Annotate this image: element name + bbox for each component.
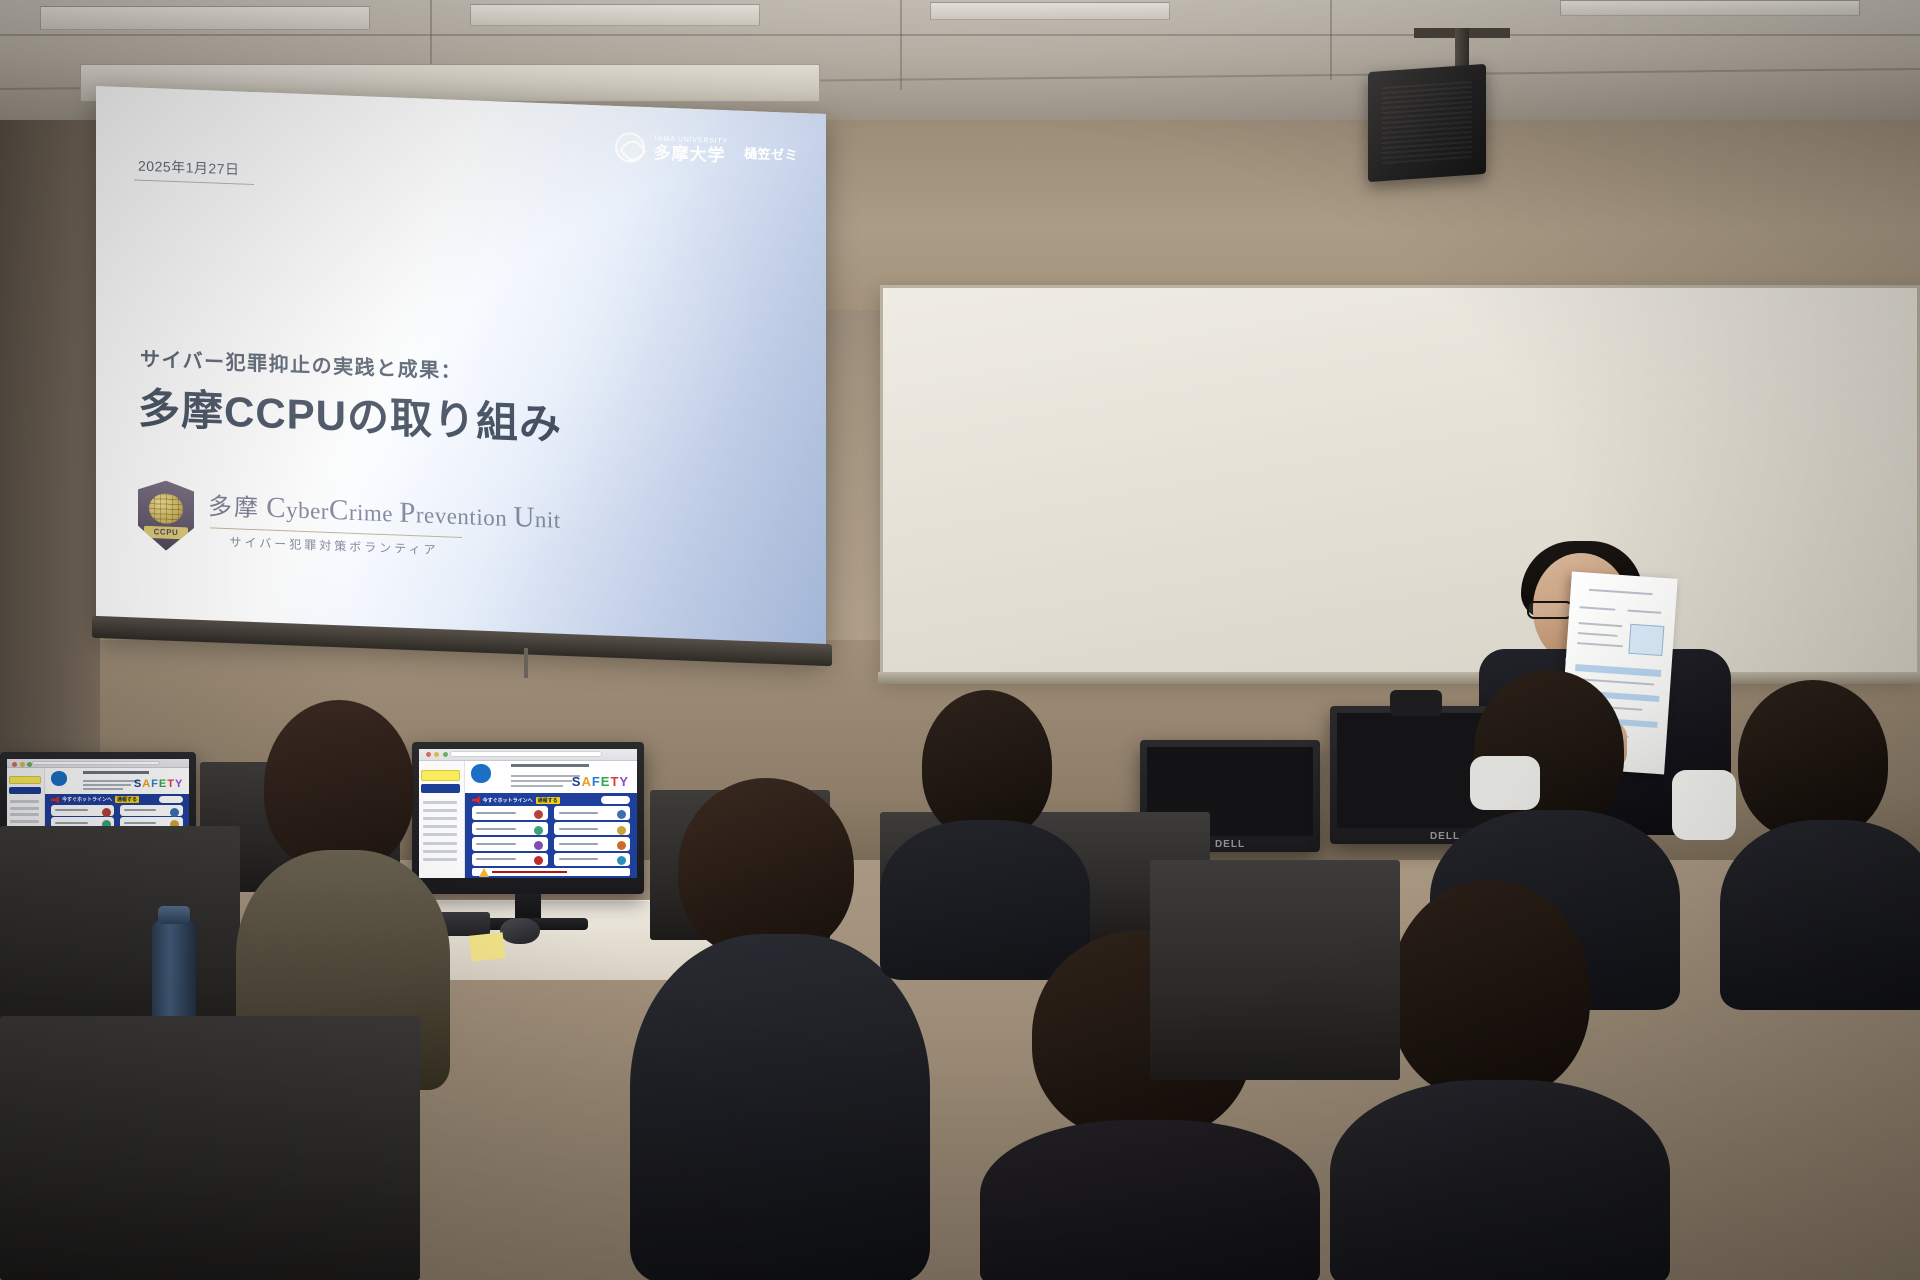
warning-notice xyxy=(472,868,630,877)
sidebar-active-item[interactable] xyxy=(9,787,41,794)
monitor-center[interactable]: S A F E T Y 今すぐホットラインへ 通報する xyxy=(412,742,644,894)
university-logo: TAMA UNIVERSITY 多摩大学 樋笠ゼミ xyxy=(615,132,798,169)
hotline-banner-text: 今すぐホットラインへ xyxy=(483,797,533,804)
bottle-cap xyxy=(158,906,190,924)
browser-url-bar[interactable] xyxy=(450,751,603,757)
ccpu-badge-text: CCPU xyxy=(144,526,188,540)
yellow-sticky-note xyxy=(469,932,506,961)
megaphone-icon xyxy=(472,796,480,804)
slide-title: 多摩CCPUの取り組み xyxy=(138,375,562,452)
report-category-grid[interactable] xyxy=(472,806,630,866)
report-category-cell[interactable] xyxy=(554,837,630,850)
ccpu-wordmark-jp: 多摩 xyxy=(208,494,260,522)
student-mid-right xyxy=(880,690,1080,940)
report-category-cell[interactable] xyxy=(554,853,630,866)
ceiling-light xyxy=(1560,0,1860,16)
slide-date-underline xyxy=(134,179,254,185)
ceiling-light xyxy=(470,4,760,26)
ccpu-shield-icon: CCPU xyxy=(138,480,194,552)
site-logo-icon[interactable] xyxy=(471,764,491,782)
projector-screen-pull-cord xyxy=(524,648,528,678)
browser-chrome[interactable] xyxy=(7,759,189,768)
projector-screen: 2025年1月27日 TAMA UNIVERSITY 多摩大学 樋笠ゼミ サイバ… xyxy=(96,86,826,659)
report-category-cell[interactable] xyxy=(554,822,630,835)
seminar-name: 樋笠ゼミ xyxy=(744,142,798,163)
desk-partition xyxy=(1150,860,1400,1080)
hotline-banner-text: 今すぐホットラインへ xyxy=(62,796,112,803)
student-front-center xyxy=(630,778,920,1278)
ceiling-speaker xyxy=(1368,64,1486,182)
browser-chrome[interactable] xyxy=(419,749,637,761)
megaphone-icon xyxy=(51,796,59,804)
report-category-cell[interactable] xyxy=(51,805,115,816)
student-far-right xyxy=(1720,680,1920,960)
browser-url-bar[interactable] xyxy=(32,761,159,765)
ceiling-light xyxy=(40,6,370,30)
monitor-center-screen[interactable]: S A F E T Y 今すぐホットラインへ 通報する xyxy=(419,749,637,878)
glasses-icon xyxy=(1527,601,1573,619)
hotline-banner-highlight: 通報する xyxy=(115,796,139,803)
safety-logo: S A F E T Y xyxy=(134,772,181,790)
report-category-cell[interactable] xyxy=(472,806,548,819)
report-category-cell[interactable] xyxy=(472,822,548,835)
desk-partition-foreground xyxy=(0,1016,420,1280)
safety-logo: S A F E T Y xyxy=(572,766,629,788)
lecture-hall-photo: 2025年1月27日 TAMA UNIVERSITY 多摩大学 樋笠ゼミ サイバ… xyxy=(0,0,1920,1280)
hotline-side-button[interactable] xyxy=(159,796,183,803)
ceiling-seam xyxy=(1330,0,1332,80)
report-category-cell[interactable] xyxy=(472,837,548,850)
globe-icon xyxy=(149,493,183,524)
site-logo-icon[interactable] xyxy=(51,771,67,785)
report-category-cell[interactable] xyxy=(120,805,184,816)
university-logo-text: TAMA UNIVERSITY 多摩大学 xyxy=(653,135,728,164)
dell-logo: DELL xyxy=(1215,839,1245,850)
face-mask xyxy=(1470,756,1540,810)
computer-mouse[interactable] xyxy=(500,918,540,944)
report-category-cell[interactable] xyxy=(554,806,630,819)
sidebar-highlight-badge[interactable] xyxy=(9,776,41,784)
ceiling-light xyxy=(930,2,1170,20)
hotline-side-button[interactable] xyxy=(601,796,630,805)
ccpu-wordmark-block: 多摩 CyberCrime Prevention Unit サイバー犯罪対策ボラ… xyxy=(208,486,561,563)
whiteboard xyxy=(880,285,1920,680)
wall-left-column xyxy=(0,60,100,760)
report-category-cell[interactable] xyxy=(472,853,548,866)
ceiling-seam xyxy=(0,34,1920,36)
ceiling-seam xyxy=(900,0,902,90)
university-name-japanese: 多摩大学 xyxy=(653,144,728,164)
hotline-banner-highlight: 通報する xyxy=(536,797,560,804)
presentation-slide: 2025年1月27日 TAMA UNIVERSITY 多摩大学 樋笠ゼミ サイバ… xyxy=(96,86,826,659)
ccpu-logo: CCPU 多摩 CyberCrime Prevention Unit サイバー犯… xyxy=(138,480,561,566)
tama-university-crest-icon xyxy=(615,132,645,163)
hotline-panel: 今すぐホットラインへ 通報する xyxy=(465,793,637,878)
safety-website-2[interactable]: S A F E T Y 今すぐホットラインへ 通報する xyxy=(419,749,637,878)
warning-triangle-icon xyxy=(479,868,489,877)
slide-date: 2025年1月27日 xyxy=(138,156,240,180)
